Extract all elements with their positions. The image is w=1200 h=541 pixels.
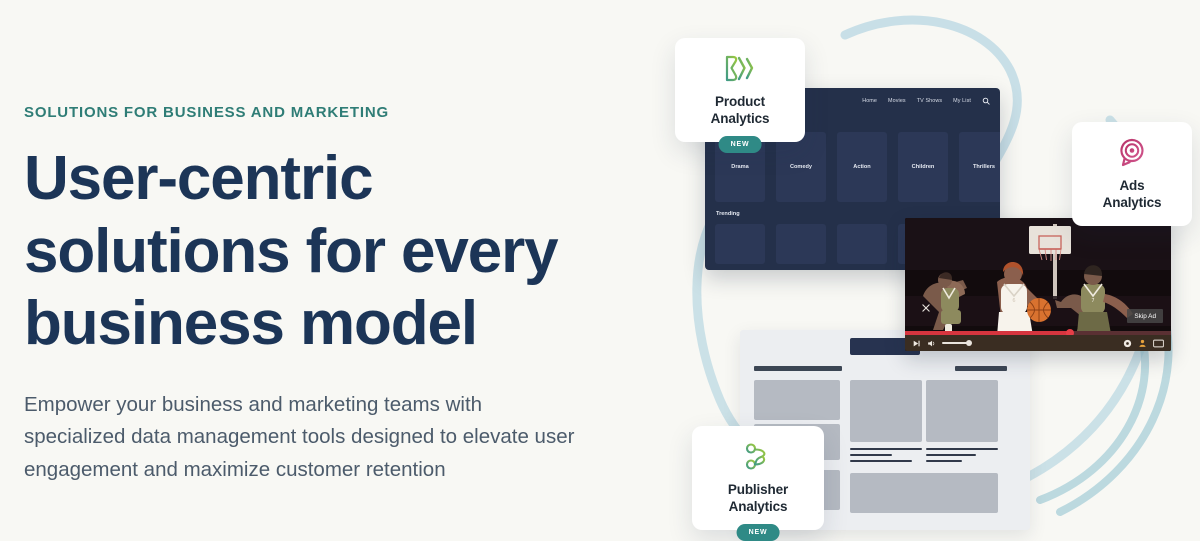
status-badge: NEW [719,136,762,153]
wire-heading-bar [754,366,842,371]
section-label-trending: Trending [716,211,740,217]
hero-copy: SOLUTIONS FOR BUSINESS AND MARKETING Use… [24,104,624,486]
skip-ad-button[interactable]: Skip Ad [1127,309,1163,323]
card-title: Product Analytics [711,93,770,128]
card-title-line-1: Product [715,94,765,109]
fullscreen-icon[interactable] [1153,339,1164,348]
chevrons-logo-icon [723,54,757,84]
volume-slider[interactable] [942,342,970,344]
card-title-line-1: Publisher [728,482,788,497]
genre-label: Children [912,164,935,170]
stream-nav-movies[interactable]: Movies [888,98,906,104]
wire-text-line [850,448,922,450]
wire-text-line [850,454,892,456]
hero-section: SOLUTIONS FOR BUSINESS AND MARKETING Use… [0,0,1200,539]
genre-label: Thrillers [973,164,995,170]
trending-tile[interactable] [837,224,887,264]
wire-placeholder-block [926,380,998,442]
cast-icon[interactable] [1138,339,1147,348]
stream-nav: Home Movies TV Shows My List [862,97,990,105]
genre-label: Comedy [790,164,812,170]
card-publisher-analytics[interactable]: Publisher Analytics NEW [692,426,824,530]
stream-nav-tv-shows[interactable]: TV Shows [917,98,942,104]
settings-gear-icon[interactable] [1123,339,1132,348]
wire-text-line [926,454,976,456]
genre-label: Drama [731,164,748,170]
page-title: User-centric solutions for every busines… [24,143,624,361]
trending-tile[interactable] [776,224,826,264]
svg-text:7: 7 [1091,298,1094,304]
card-title: Publisher Analytics [728,481,788,516]
headline-line-3: business model [24,289,477,358]
wire-text-line [926,460,962,462]
genre-label: Action [853,164,870,170]
card-product-analytics[interactable]: Product Analytics NEW [675,38,805,142]
hero-illustration: Home Movies TV Shows My List Drama Comed… [640,0,1200,539]
video-player[interactable]: 6 7 [905,218,1171,351]
headline-line-2: solutions for every [24,217,558,286]
wire-placeholder-block [850,473,998,513]
wire-text-line [850,460,912,462]
wire-text-line [926,448,998,450]
video-controls [905,335,1171,351]
stream-nav-home[interactable]: Home [862,98,877,104]
video-controls-right [1123,339,1164,348]
genre-tile-comedy[interactable]: Comedy [776,132,826,202]
trending-tile[interactable] [715,224,765,264]
next-track-icon[interactable] [912,339,921,348]
close-x-icon[interactable] [921,303,931,313]
status-badge: NEW [737,524,780,541]
headline-line-1: User-centric [24,144,372,213]
stream-nav-my-list[interactable]: My List [953,98,971,104]
wire-placeholder-block [850,380,922,442]
card-ads-analytics[interactable]: Ads Analytics [1072,122,1192,226]
card-title-line-2: Analytics [729,499,788,514]
search-icon[interactable] [982,97,990,105]
location-pin-target-icon [1118,138,1146,168]
genre-tile-thrillers[interactable]: Thrillers [959,132,1000,202]
svg-text:6: 6 [1012,298,1015,304]
genre-tile-action[interactable]: Action [837,132,887,202]
eyebrow-label: SOLUTIONS FOR BUSINESS AND MARKETING [24,104,624,121]
wire-heading-bar [955,366,1007,371]
card-title-line-2: Analytics [1103,195,1162,210]
wire-placeholder-block [754,380,840,420]
card-title-line-2: Analytics [711,111,770,126]
card-title-line-1: Ads [1119,178,1144,193]
volume-icon[interactable] [927,339,936,348]
genre-tile-children[interactable]: Children [898,132,948,202]
card-title: Ads Analytics [1103,177,1162,212]
hero-description: Empower your business and marketing team… [24,389,584,487]
node-graph-icon [743,442,773,472]
